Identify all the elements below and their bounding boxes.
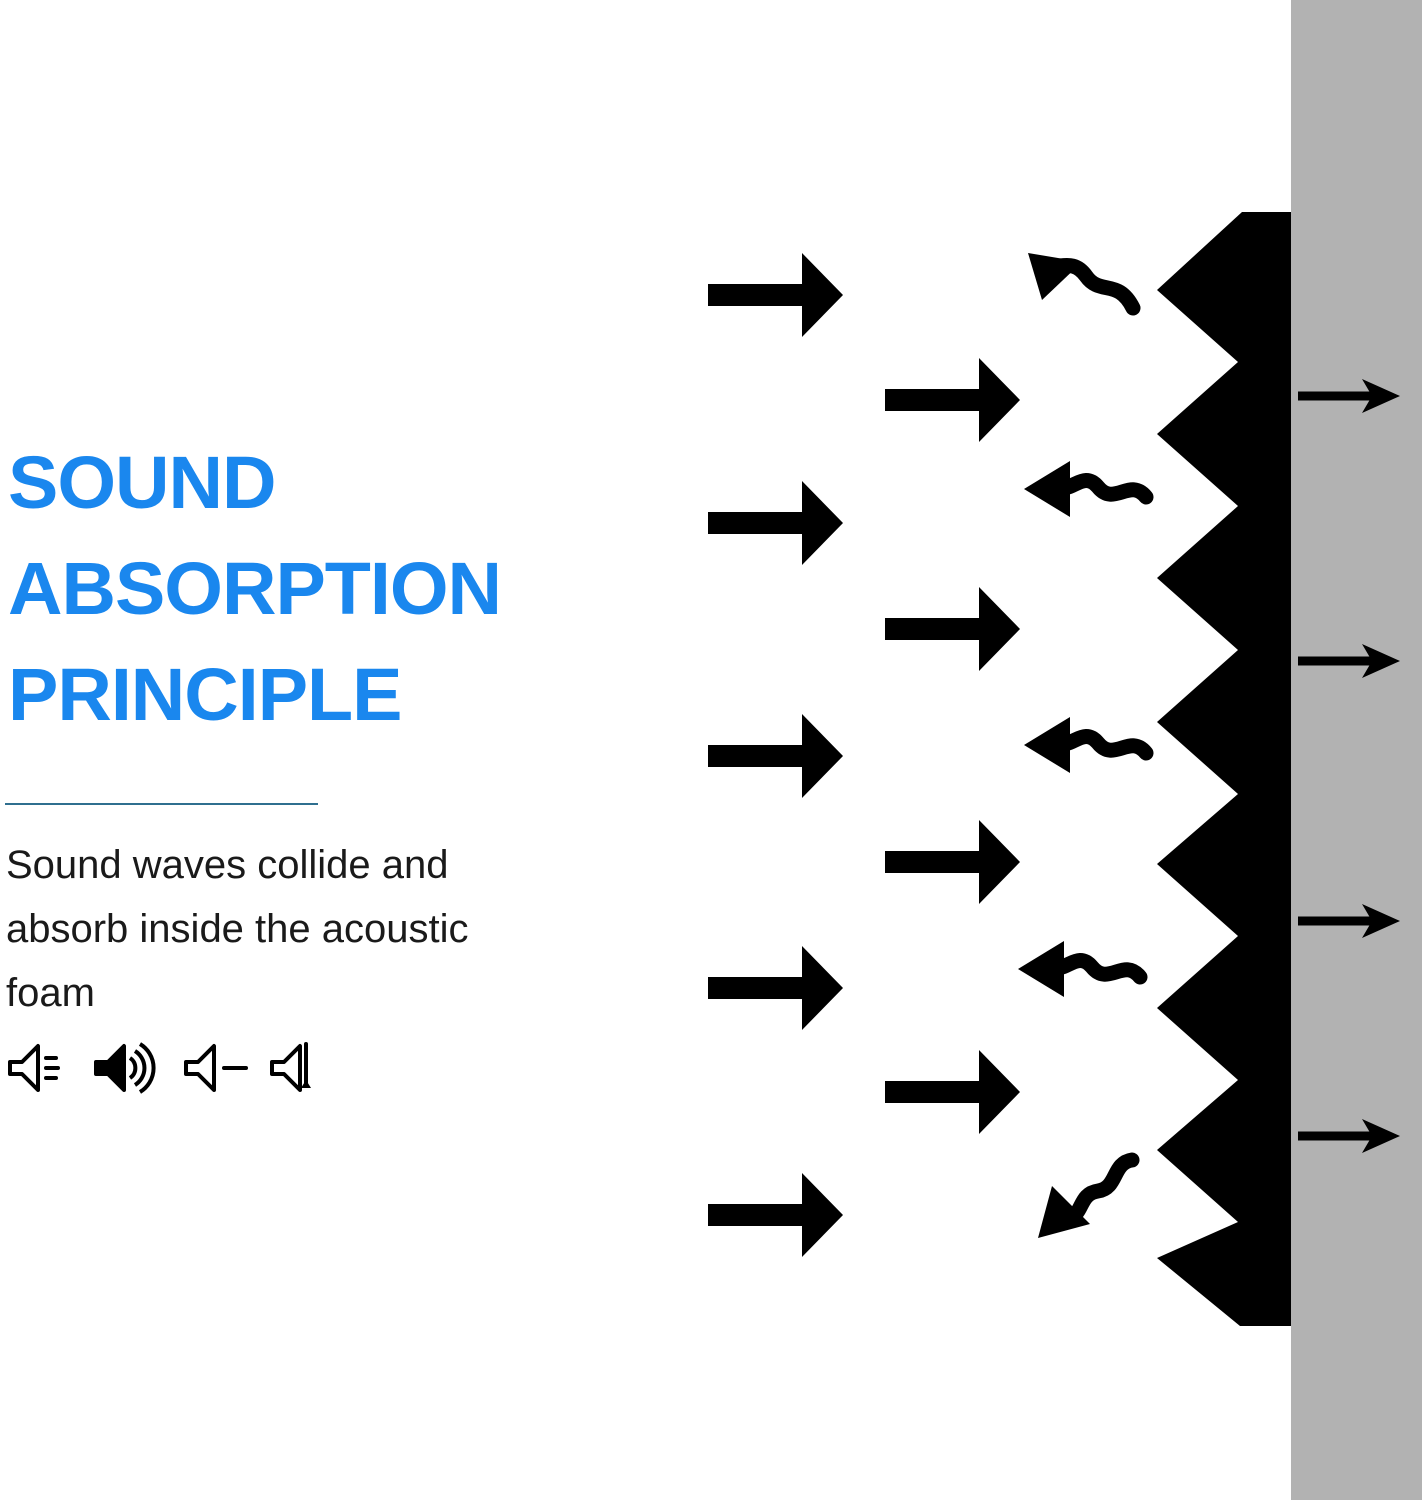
speaker-low-volume-icon — [6, 1036, 82, 1100]
incident-arrow — [708, 714, 843, 798]
reflected-wave-arrow — [1060, 480, 1146, 497]
text-panel: SOUND ABSORPTION PRINCIPLE Sound waves c… — [0, 0, 660, 1500]
incident-arrow — [708, 946, 843, 1030]
speaker-icon-row — [6, 1036, 346, 1106]
transmitted-arrow — [1298, 1119, 1400, 1153]
incident-arrow-group-short — [708, 253, 843, 1257]
transmitted-arrow — [1298, 904, 1400, 938]
acoustic-foam-wedge — [1157, 212, 1291, 1326]
reflected-wave-arrow — [1068, 1160, 1132, 1218]
title-line-3: PRINCIPLE — [8, 642, 640, 748]
page-title: SOUND ABSORPTION PRINCIPLE — [8, 430, 628, 748]
transmitted-arrow-group — [1298, 379, 1400, 1153]
reflected-wave-arrow — [1060, 736, 1146, 753]
incident-arrow — [708, 253, 843, 337]
speaker-medium-volume-icon — [182, 1036, 258, 1100]
title-line-1: SOUND — [8, 430, 640, 536]
incident-arrow — [885, 358, 1020, 442]
reflected-arrow-head — [1018, 941, 1064, 997]
sound-absorption-infographic: SOUND ABSORPTION PRINCIPLE Sound waves c… — [0, 0, 1422, 1500]
incident-arrow — [708, 1173, 843, 1257]
incident-arrow — [885, 1050, 1020, 1134]
transmitted-arrow — [1298, 379, 1400, 413]
incident-arrow — [885, 820, 1020, 904]
incident-arrow — [708, 481, 843, 565]
speaker-mute-icon — [268, 1036, 344, 1100]
reflected-arrow-head — [1024, 717, 1070, 773]
incident-arrow-group-long — [885, 358, 1020, 1134]
transmitted-arrow — [1298, 644, 1400, 678]
reflected-arrow-head — [1024, 461, 1070, 517]
incident-arrow — [885, 587, 1020, 671]
body-copy: Sound waves collide and absorb inside th… — [6, 833, 506, 1025]
title-line-2: ABSORPTION — [8, 536, 640, 642]
reflected-wave-arrow — [1054, 960, 1140, 977]
divider — [5, 803, 318, 805]
speaker-high-volume-icon — [92, 1036, 168, 1100]
